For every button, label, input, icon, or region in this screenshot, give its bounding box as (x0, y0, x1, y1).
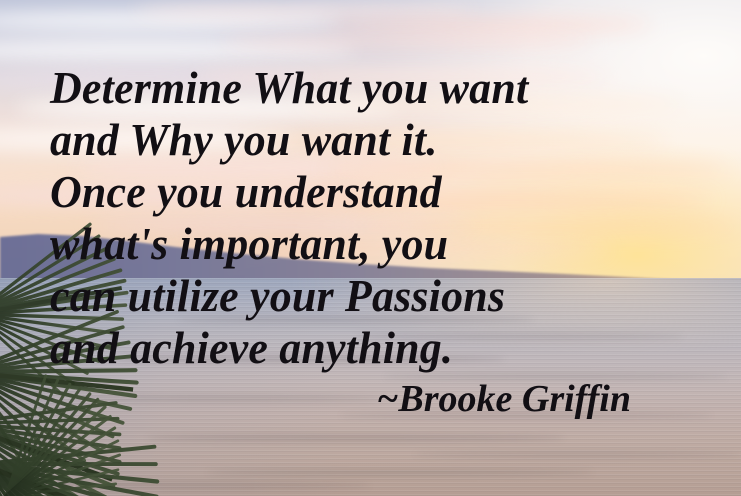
quote-image: Determine What you want and Why you want… (0, 0, 741, 496)
cloud-streak (326, 17, 652, 34)
quote-attribution: ~Brooke Griffin (50, 376, 727, 422)
quote-line-4: what's important, you (50, 218, 697, 270)
cloud-streak (133, 3, 474, 20)
cloud-streak (0, 11, 341, 30)
wave-line (415, 452, 741, 457)
quote-line-2: and Why you want it. (50, 114, 697, 166)
wave-line (30, 483, 371, 488)
quote-text-block: Determine What you want and Why you want… (50, 62, 727, 422)
quote-line-3: Once you understand (50, 166, 697, 218)
wave-line (207, 470, 592, 475)
cloud-streak (0, 39, 356, 61)
wave-line (148, 435, 563, 441)
quote-line-5: can utilize your Passions (50, 270, 697, 322)
quote-line-1: Determine What you want (50, 62, 697, 114)
quote-line-6: and achieve anything. (50, 322, 697, 374)
cloud-streak (222, 33, 593, 50)
